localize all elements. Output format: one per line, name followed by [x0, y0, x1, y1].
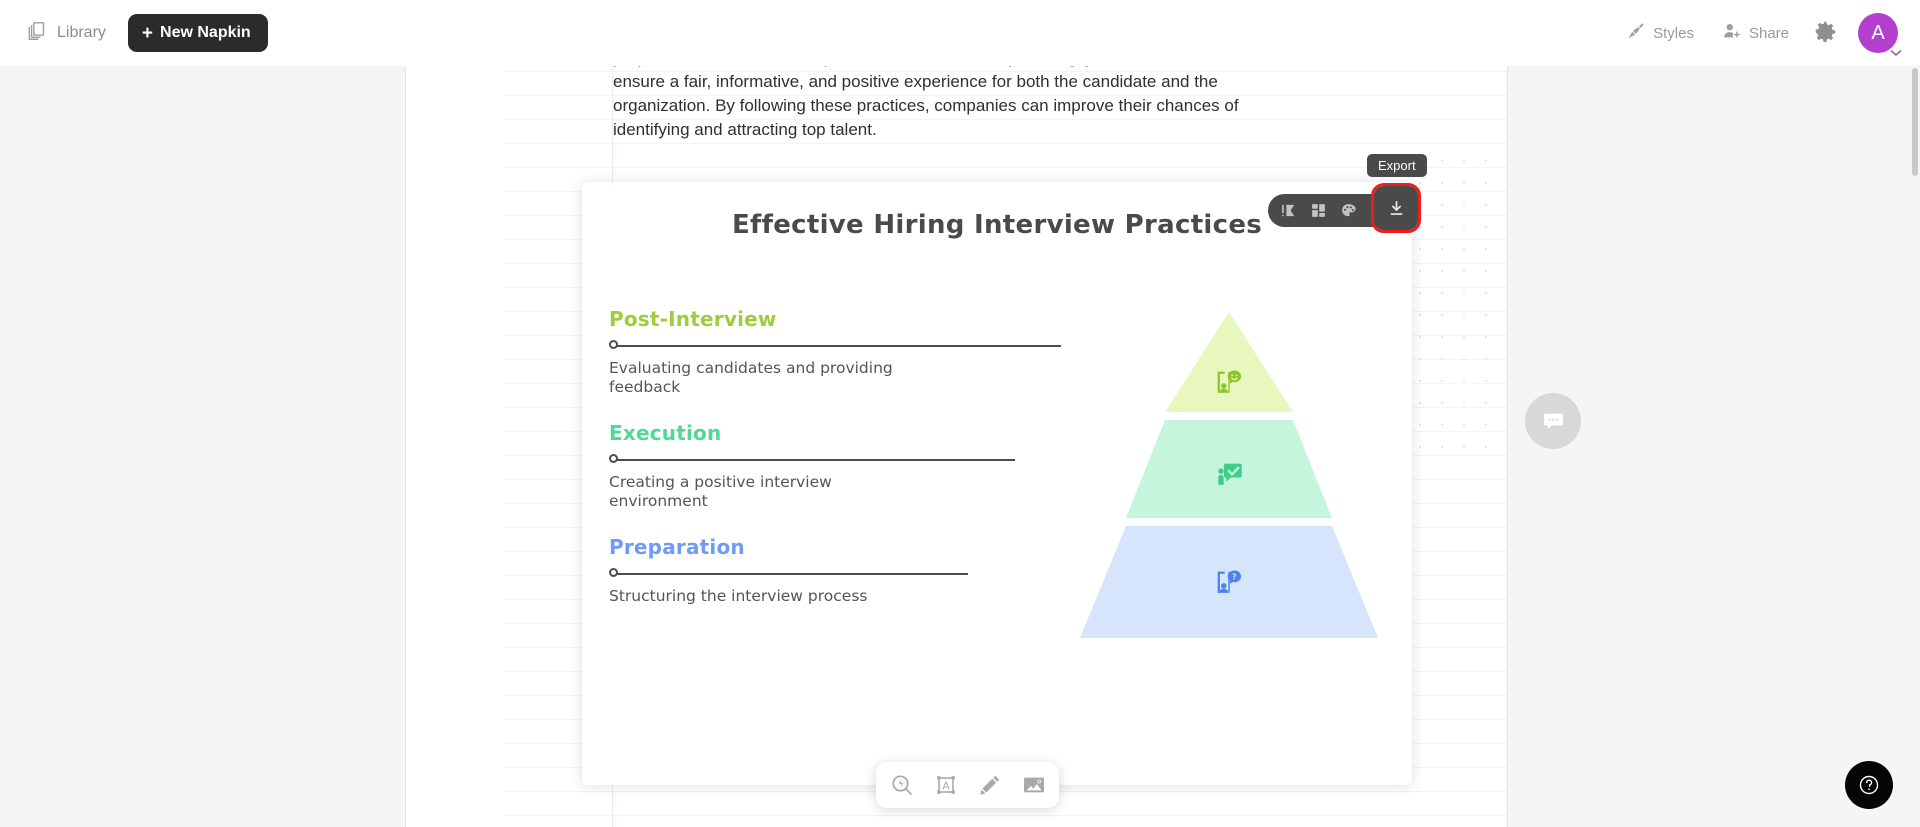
pyramid-icon-preparation: ?: [1064, 566, 1394, 600]
pen-icon[interactable]: [974, 770, 1005, 801]
settings-button[interactable]: [1808, 16, 1842, 50]
styles-button[interactable]: Styles: [1617, 15, 1703, 52]
image-icon[interactable]: [1018, 770, 1049, 801]
styles-brush-icon: [1626, 21, 1646, 46]
text-box-icon[interactable]: A: [930, 770, 961, 801]
share-label: Share: [1749, 25, 1789, 42]
chat-button[interactable]: [1525, 393, 1581, 449]
new-napkin-label: New Napkin: [160, 24, 251, 42]
level-description: Structuring the interview process: [609, 587, 939, 606]
top-bar: Library + New Napkin Styles: [0, 0, 1920, 66]
user-avatar-menu[interactable]: A: [1858, 13, 1898, 53]
spark-search-icon[interactable]: [886, 770, 917, 801]
layout-grid-icon[interactable]: [1304, 198, 1332, 224]
pyramid-graphic[interactable]: ?: [1064, 310, 1394, 685]
help-button[interactable]: [1845, 761, 1893, 809]
share-button[interactable]: Share: [1713, 15, 1798, 52]
chat-bubble-icon: [1541, 409, 1566, 434]
page-scrollbar[interactable]: [1912, 68, 1918, 827]
library-icon: [26, 20, 47, 46]
color-palette-icon[interactable]: [1334, 198, 1362, 224]
top-bar-left: Library + New Napkin: [18, 0, 268, 66]
svg-text:?: ?: [1232, 573, 1237, 582]
gear-icon: [1814, 20, 1836, 47]
scrollbar-thumb[interactable]: [1912, 68, 1918, 176]
pyramid-icon-post-interview: [1064, 366, 1394, 400]
plus-icon: +: [142, 24, 153, 43]
library-button[interactable]: Library: [18, 14, 114, 52]
share-person-add-icon: [1722, 21, 1742, 46]
help-question-icon: [1857, 773, 1881, 797]
insert-toolbar[interactable]: A: [876, 762, 1059, 808]
library-label: Library: [57, 24, 106, 42]
style-variants-icon[interactable]: [1274, 198, 1302, 224]
pyramid-icon-execution: [1064, 458, 1394, 492]
export-button[interactable]: [1374, 186, 1418, 230]
export-control[interactable]: Export: [1374, 186, 1418, 230]
pyramid-tier-top[interactable]: [1064, 310, 1394, 420]
new-napkin-button[interactable]: + New Napkin: [128, 14, 268, 52]
level-description: Creating a positive interview environmen…: [609, 473, 909, 511]
workspace: Undo This document outlines the best pra…: [0, 0, 1920, 827]
top-bar-right: Styles Share A: [1617, 0, 1898, 66]
undo-rail: Undo: [405, 0, 505, 827]
export-tooltip: Export: [1367, 154, 1427, 177]
svg-text:A: A: [942, 780, 950, 792]
styles-label: Styles: [1653, 25, 1694, 42]
download-icon: [1387, 199, 1406, 218]
chevron-down-icon[interactable]: [1890, 46, 1902, 60]
level-description: Evaluating candidates and providing feed…: [609, 359, 909, 397]
diagram-card[interactable]: Effective Hiring Interview Practices Pos…: [582, 182, 1412, 785]
